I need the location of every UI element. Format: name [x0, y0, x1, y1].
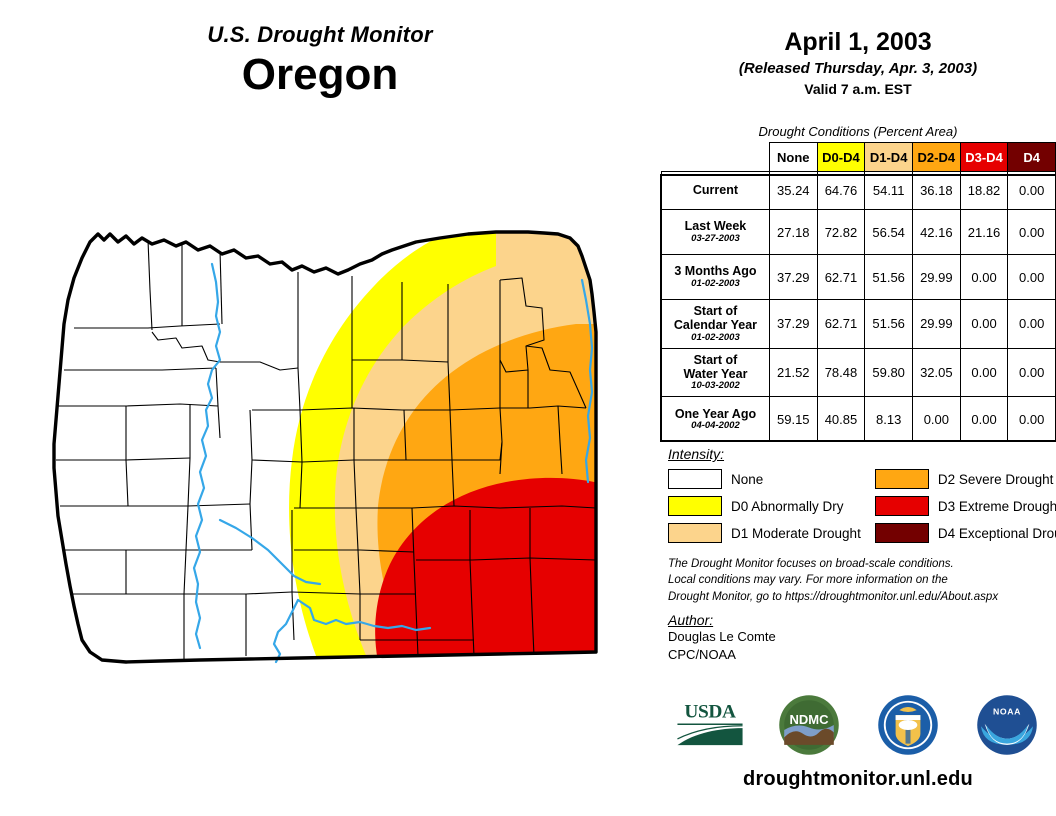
legend-item-none: None	[668, 469, 861, 489]
cell-0-none: 35.24	[769, 172, 817, 210]
ndmc-logo: NDMC	[769, 694, 849, 756]
noaa-logo: NOAA	[967, 694, 1047, 756]
row-label-one-year-ago: One Year Ago04-04-2002	[662, 397, 770, 442]
row-label-date: 04-04-2002	[664, 421, 767, 432]
row-label-line: One Year Ago	[664, 407, 767, 421]
row-label-line: Start of	[664, 353, 767, 367]
table-row: 3 Months Ago01-02-200337.2962.7151.5629.…	[662, 255, 1056, 300]
cell-3-d4: 0.00	[1008, 300, 1056, 349]
cell-0-d3-d4: 18.82	[960, 172, 1008, 210]
author-affiliation: CPC/NOAA	[668, 646, 1056, 664]
cell-5-d1-d4: 8.13	[865, 397, 913, 442]
cell-2-d1-d4: 51.56	[865, 255, 913, 300]
table-corner-cell	[662, 143, 770, 172]
table-col-header-d0-d4: D0-D4	[817, 143, 865, 172]
row-label-3-months-ago: 3 Months Ago01-02-2003	[662, 255, 770, 300]
row-label-line: Start of	[664, 304, 767, 318]
cell-2-d2-d4: 29.99	[913, 255, 961, 300]
cell-4-d2-d4: 32.05	[913, 348, 961, 397]
map-title-block: U.S. Drought Monitor Oregon	[0, 22, 640, 98]
row-label-current: Current	[662, 172, 770, 210]
row-label-date: 03-27-2003	[664, 234, 767, 245]
table-col-header-d2-d4: D2-D4	[913, 143, 961, 172]
usda-logo: USDA	[670, 694, 750, 756]
cell-1-d3-d4: 21.16	[960, 210, 1008, 255]
legend-item-d0: D0 Abnormally Dry	[668, 496, 861, 516]
cell-1-d2-d4: 42.16	[913, 210, 961, 255]
table-col-header-d4: D4	[1008, 143, 1056, 172]
disclaimer-line-1: The Drought Monitor focuses on broad-sca…	[668, 556, 1056, 572]
row-label-last-week: Last Week03-27-2003	[662, 210, 770, 255]
disclaimer-text: The Drought Monitor focuses on broad-sca…	[668, 556, 1056, 605]
row-label-start-of: Start ofWater Year10-03-2002	[662, 348, 770, 397]
legend-item-d4: D4 Exceptional Drought	[875, 523, 1056, 543]
cell-3-d2-d4: 29.99	[913, 300, 961, 349]
date-header: April 1, 2003 (Released Thursday, Apr. 3…	[660, 28, 1056, 97]
table-col-header-d3-d4: D3-D4	[960, 143, 1008, 172]
legend-label-d4: D4 Exceptional Drought	[938, 526, 1056, 541]
cell-4-d3-d4: 0.00	[960, 348, 1008, 397]
row-label-line: Calendar Year	[664, 318, 767, 332]
cell-1-d0-d4: 72.82	[817, 210, 865, 255]
report-date: April 1, 2003	[660, 28, 1056, 57]
cell-0-d2-d4: 36.18	[913, 172, 961, 210]
cell-1-d4: 0.00	[1008, 210, 1056, 255]
legend-swatch-none	[668, 469, 722, 489]
drought-conditions-table: NoneD0-D4D1-D4D2-D4D3-D4D4 Current35.246…	[661, 142, 1056, 442]
cell-0-d4: 0.00	[1008, 172, 1056, 210]
cell-4-d0-d4: 78.48	[817, 348, 865, 397]
legend-swatch-d1	[668, 523, 722, 543]
cell-5-d2-d4: 0.00	[913, 397, 961, 442]
website-url: droughtmonitor.unl.edu	[660, 768, 1056, 791]
legend-swatch-d0	[668, 496, 722, 516]
svg-text:NOAA: NOAA	[992, 706, 1020, 716]
row-label-line: Water Year	[664, 367, 767, 381]
table-col-header-d1-d4: D1-D4	[865, 143, 913, 172]
cell-0-d1-d4: 54.11	[865, 172, 913, 210]
legend-swatch-d2	[875, 469, 929, 489]
oregon-drought-map	[30, 220, 640, 690]
cell-2-none: 37.29	[769, 255, 817, 300]
legend-swatch-d4	[875, 523, 929, 543]
disclaimer-line-2: Local conditions may vary. For more info…	[668, 572, 1056, 588]
cell-3-none: 37.29	[769, 300, 817, 349]
svg-text:USDA: USDA	[684, 701, 736, 722]
cell-2-d4: 0.00	[1008, 255, 1056, 300]
legend-swatch-d3	[875, 496, 929, 516]
legend-label-none: None	[731, 472, 763, 487]
valid-time: Valid 7 a.m. EST	[660, 81, 1056, 97]
cell-2-d0-d4: 62.71	[817, 255, 865, 300]
author-label: Author:	[668, 612, 1056, 628]
map-svg	[30, 220, 640, 690]
program-title: U.S. Drought Monitor	[0, 22, 640, 48]
legend-item-d3: D3 Extreme Drought	[875, 496, 1056, 516]
agency-logos: USDA NDMC	[660, 692, 1056, 758]
table-row: Current35.2464.7654.1136.1818.820.00	[662, 172, 1056, 210]
author-name: Douglas Le Comte	[668, 628, 1056, 646]
intensity-legend-title: Intensity:	[668, 446, 1056, 462]
cell-4-d1-d4: 59.80	[865, 348, 913, 397]
row-label-date: 01-02-2003	[664, 333, 767, 344]
cell-0-d0-d4: 64.76	[817, 172, 865, 210]
legend-label-d0: D0 Abnormally Dry	[731, 499, 844, 514]
row-label-line: 3 Months Ago	[664, 264, 767, 278]
intensity-legend-grid: NoneD2 Severe DroughtD0 Abnormally DryD3…	[668, 469, 1056, 543]
cell-1-none: 27.18	[769, 210, 817, 255]
cell-3-d3-d4: 0.00	[960, 300, 1008, 349]
usdc-seal-logo	[868, 694, 948, 756]
row-label-date: 10-03-2002	[664, 381, 767, 392]
table-body: Current35.2464.7654.1136.1818.820.00Last…	[662, 172, 1056, 442]
legend-label-d3: D3 Extreme Drought	[938, 499, 1056, 514]
table-col-header-none: None	[769, 143, 817, 172]
legend-label-d2: D2 Severe Drought	[938, 472, 1054, 487]
row-label-line: Last Week	[664, 219, 767, 233]
cell-5-d4: 0.00	[1008, 397, 1056, 442]
legend-label-d1: D1 Moderate Drought	[731, 526, 861, 541]
intensity-legend: Intensity: NoneD2 Severe DroughtD0 Abnor…	[668, 446, 1056, 543]
cell-5-none: 59.15	[769, 397, 817, 442]
row-label-start-of: Start ofCalendar Year01-02-2003	[662, 300, 770, 349]
row-label-date: 01-02-2003	[664, 279, 767, 290]
cell-1-d1-d4: 56.54	[865, 210, 913, 255]
cell-5-d3-d4: 0.00	[960, 397, 1008, 442]
cell-4-d4: 0.00	[1008, 348, 1056, 397]
row-label-line: Current	[664, 183, 767, 197]
table-header-row: NoneD0-D4D1-D4D2-D4D3-D4D4	[662, 143, 1056, 172]
cell-2-d3-d4: 0.00	[960, 255, 1008, 300]
table-row: One Year Ago04-04-200259.1540.858.130.00…	[662, 397, 1056, 442]
release-date: (Released Thursday, Apr. 3, 2003)	[660, 60, 1056, 77]
legend-item-d1: D1 Moderate Drought	[668, 523, 861, 543]
cell-3-d0-d4: 62.71	[817, 300, 865, 349]
cell-4-none: 21.52	[769, 348, 817, 397]
cell-3-d1-d4: 51.56	[865, 300, 913, 349]
cell-5-d0-d4: 40.85	[817, 397, 865, 442]
legend-item-d2: D2 Severe Drought	[875, 469, 1056, 489]
author-block: Author: Douglas Le Comte CPC/NOAA	[668, 612, 1056, 663]
table-caption: Drought Conditions (Percent Area)	[660, 124, 1056, 139]
svg-text:NDMC: NDMC	[789, 712, 829, 727]
table-row: Start ofWater Year10-03-200221.5278.4859…	[662, 348, 1056, 397]
disclaimer-line-3: Drought Monitor, go to https://droughtmo…	[668, 589, 1056, 605]
table-row: Last Week03-27-200327.1872.8256.5442.162…	[662, 210, 1056, 255]
table-row: Start ofCalendar Year01-02-200337.2962.7…	[662, 300, 1056, 349]
state-title: Oregon	[0, 52, 640, 98]
